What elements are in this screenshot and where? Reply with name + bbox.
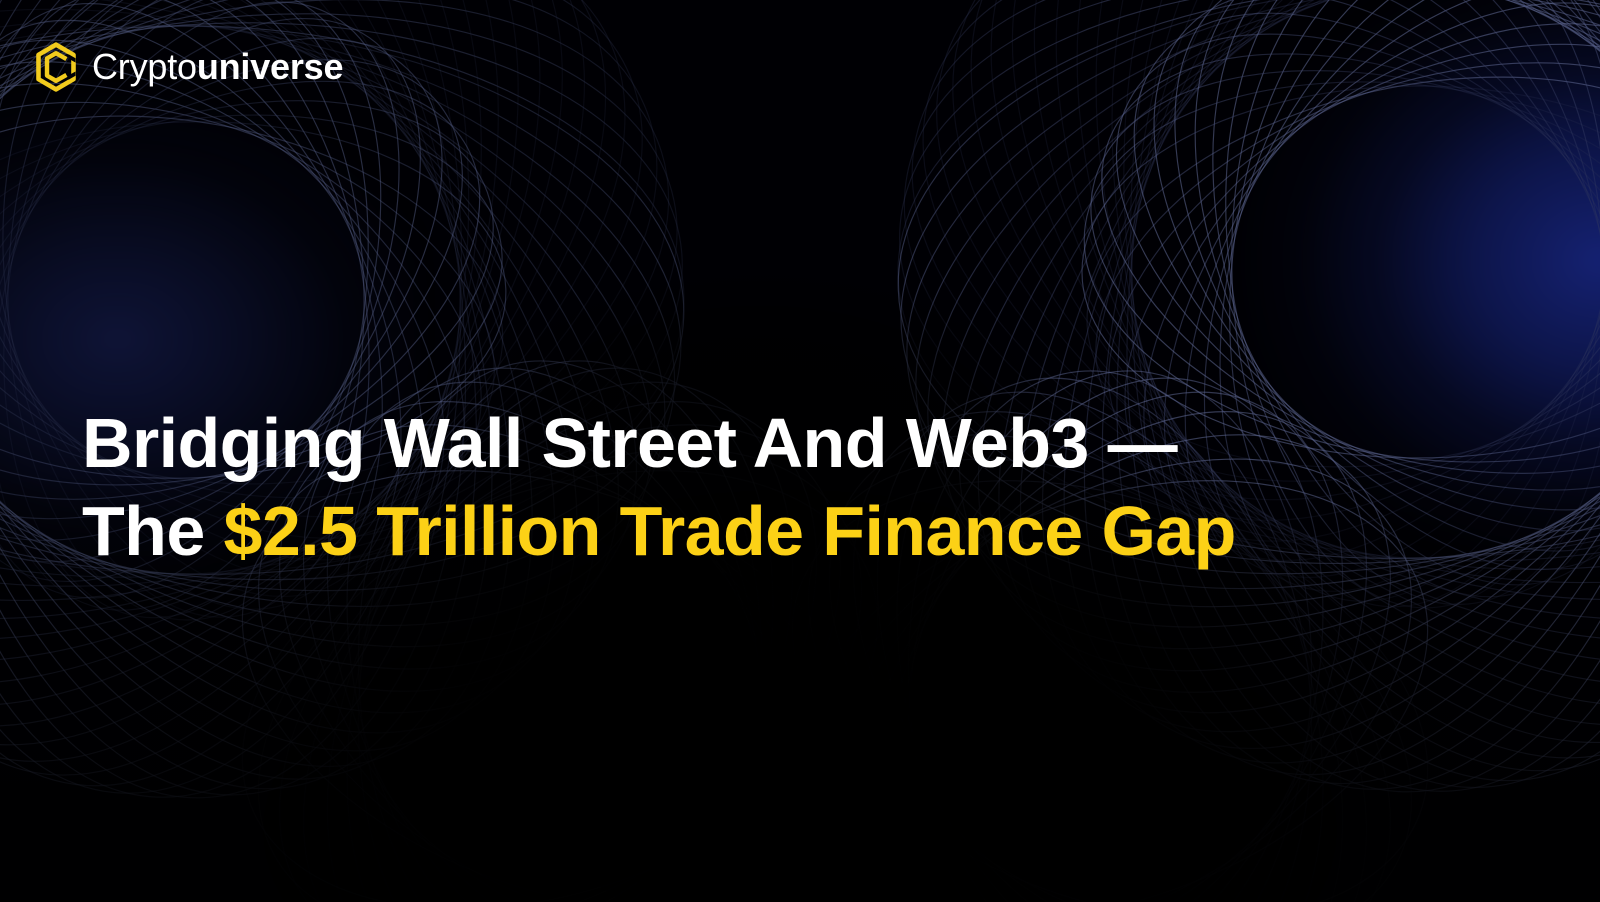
site-logo[interactable]: Cryptouniverse bbox=[34, 42, 343, 92]
background-glow-left bbox=[0, 60, 420, 680]
page-title: Bridging Wall Street And Web3 — The $2.5… bbox=[82, 399, 1442, 575]
logo-wordmark: Cryptouniverse bbox=[92, 49, 343, 85]
headline-accent-text: $2.5 Trillion Trade Finance Gap bbox=[224, 492, 1236, 570]
logo-word-crypto: Crypto bbox=[92, 46, 197, 87]
headline-line-2-prefix: The bbox=[82, 492, 224, 570]
hexagon-c-logo-icon bbox=[34, 42, 78, 92]
headline-line-1: Bridging Wall Street And Web3 — bbox=[82, 399, 1442, 487]
banner-hero: Cryptouniverse Bridging Wall Street And … bbox=[0, 0, 1600, 902]
logo-word-universe: universe bbox=[197, 46, 343, 87]
headline-line-2: The $2.5 Trillion Trade Finance Gap bbox=[82, 487, 1442, 575]
